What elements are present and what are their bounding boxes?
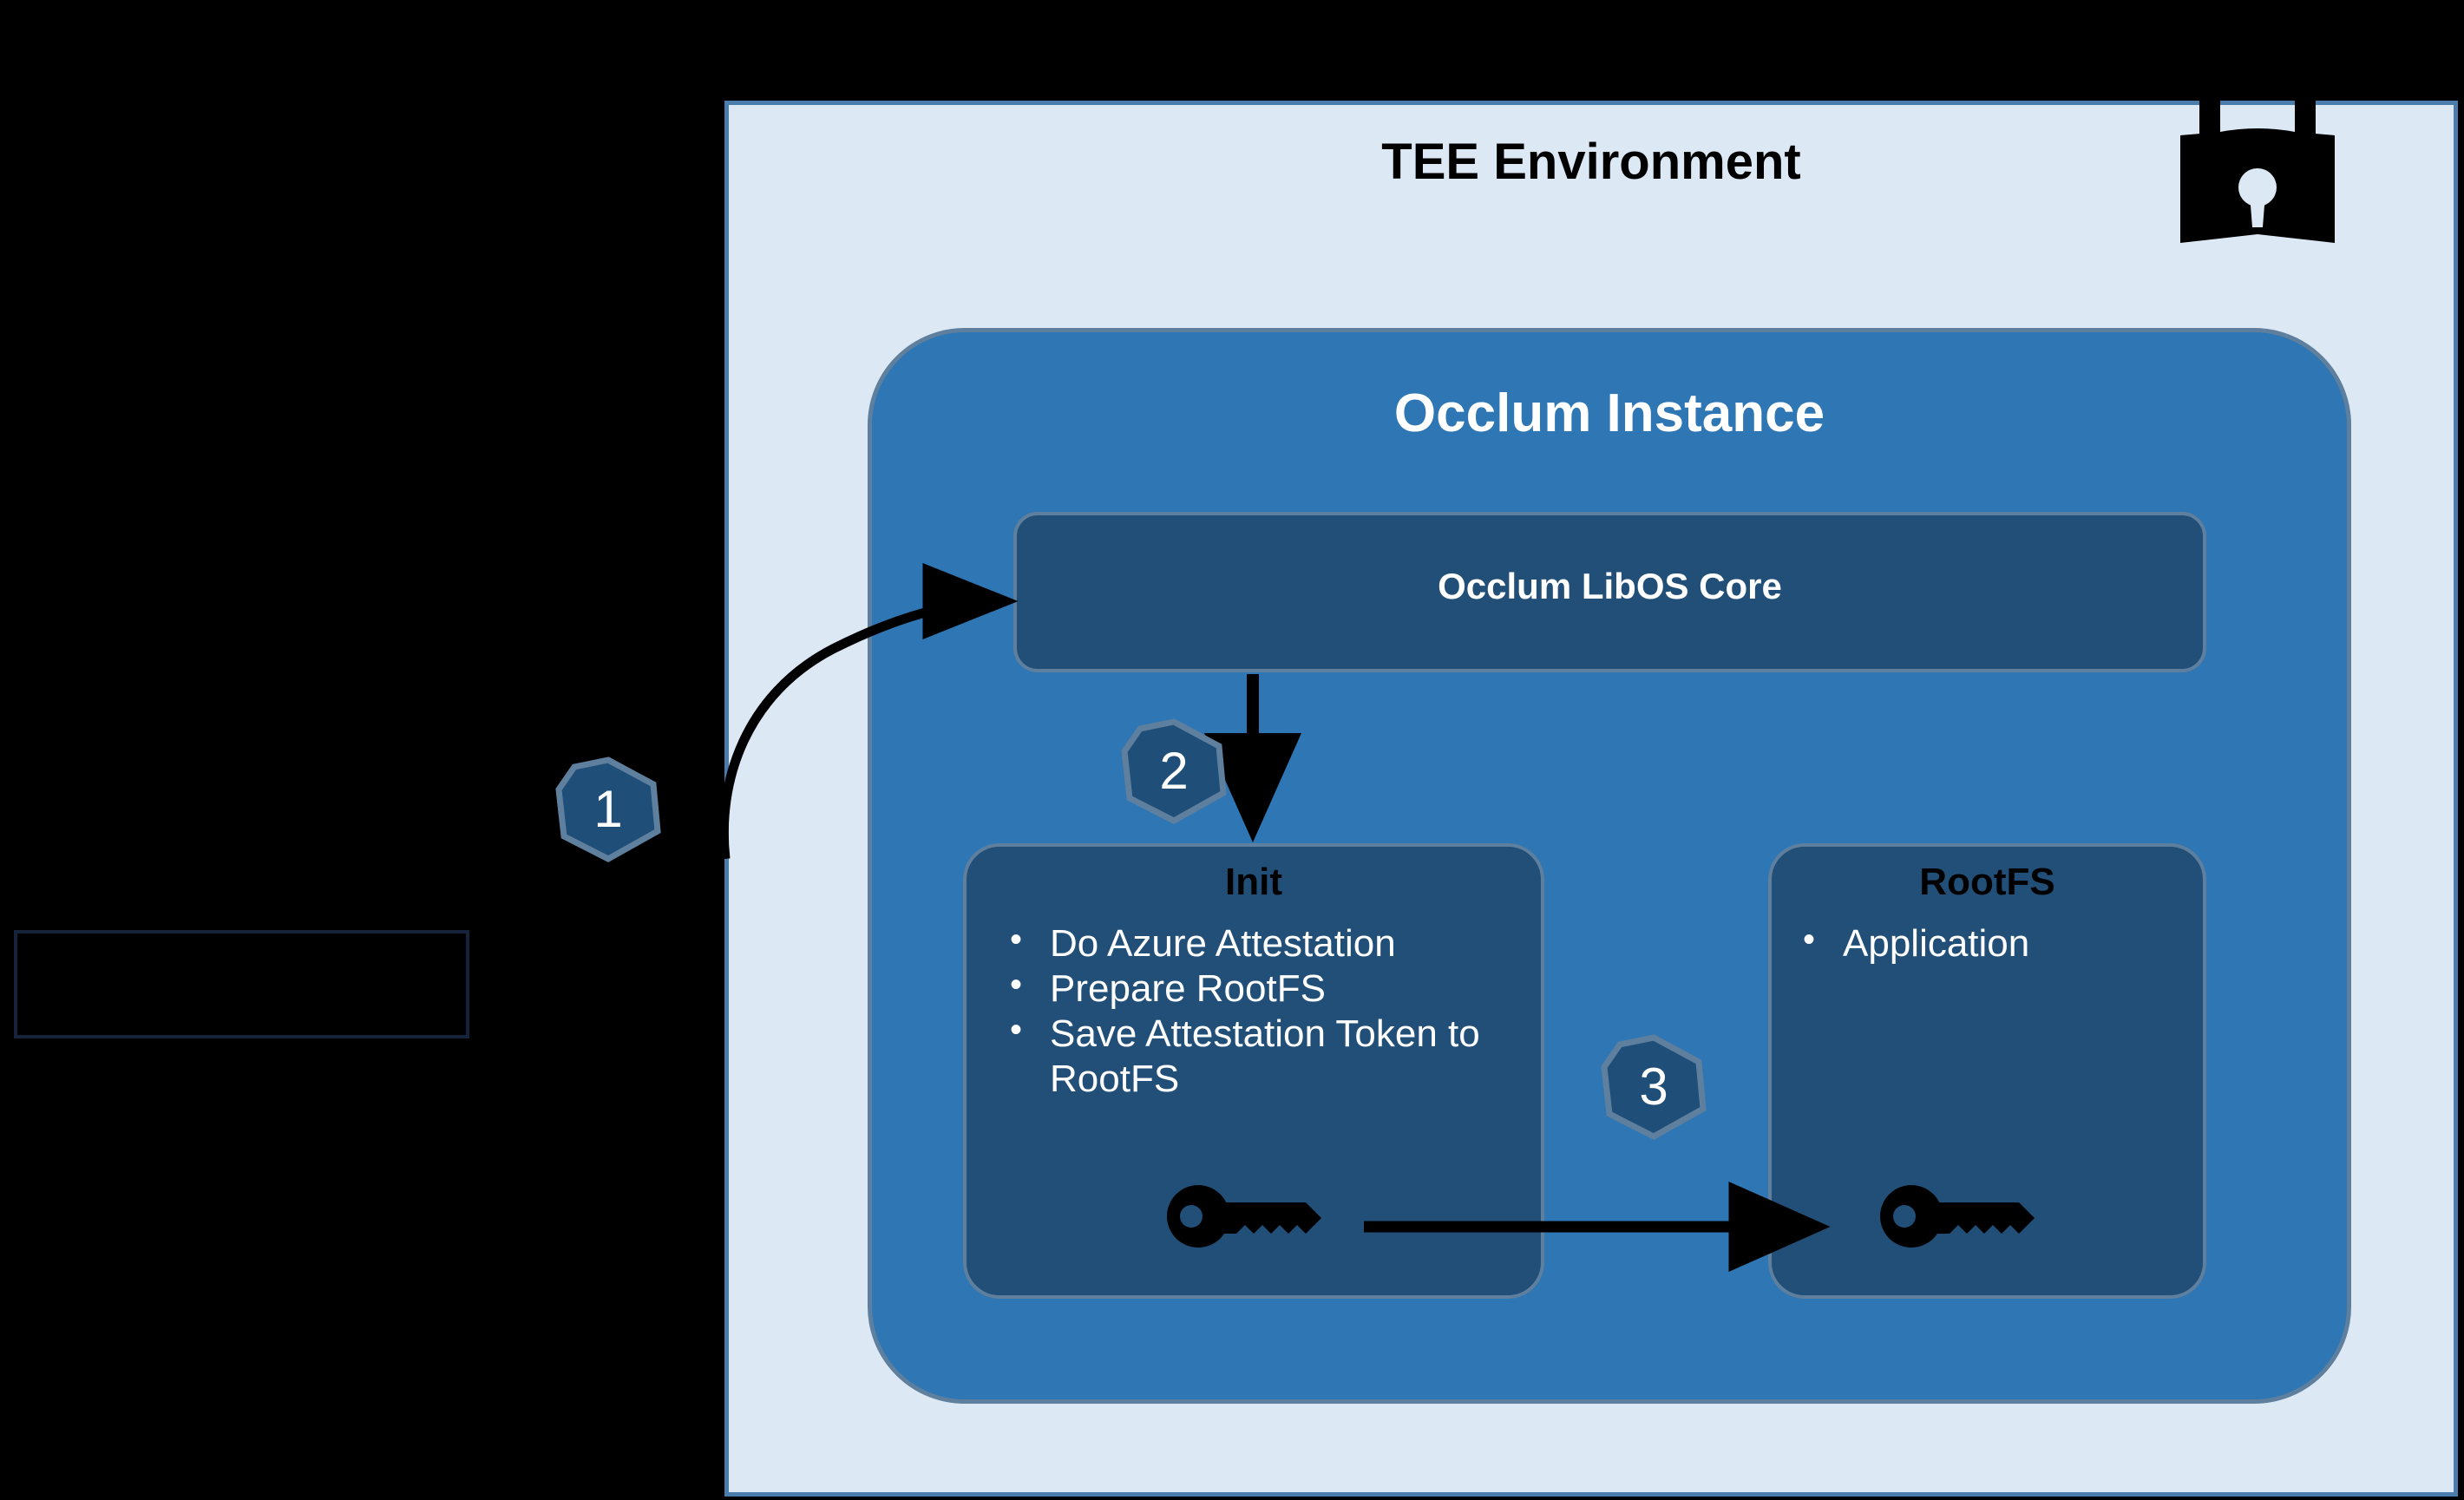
list-item: Application [1789,921,2191,966]
step-badge-3: 3 [1601,1034,1707,1140]
step-badge-1: 1 [555,757,661,862]
occlum-instance-title: Occlum Instance [872,383,2347,444]
occlum-libos-core-box: Occlum LibOS Core [1013,512,2206,672]
step-badge-1-number: 1 [555,757,661,862]
step-badge-3-number: 3 [1601,1034,1707,1140]
padlock-icon [2165,73,2351,246]
list-item: Save Attestation Token to RootFS [996,1012,1529,1102]
left-placeholder-box [14,930,469,1038]
key-icon [1167,1183,1332,1249]
rootfs-title: RootFS [1772,861,2203,904]
list-item: Do Azure Attestation [996,921,1529,966]
key-icon [1880,1183,2045,1249]
list-item: Prepare RootFS [996,966,1529,1012]
occlum-libos-core-title: Occlum LibOS Core [1017,566,2203,607]
init-title: Init [967,861,1541,904]
diagram-canvas: TEE Environment Occlum Instance Occlum L… [0,0,2464,1500]
step-badge-2: 2 [1121,718,1227,824]
init-bullet-list: Do Azure Attestation Prepare RootFS Save… [996,921,1529,1102]
step-badge-2-number: 2 [1121,718,1227,824]
rootfs-bullet-list: Application [1789,921,2191,966]
